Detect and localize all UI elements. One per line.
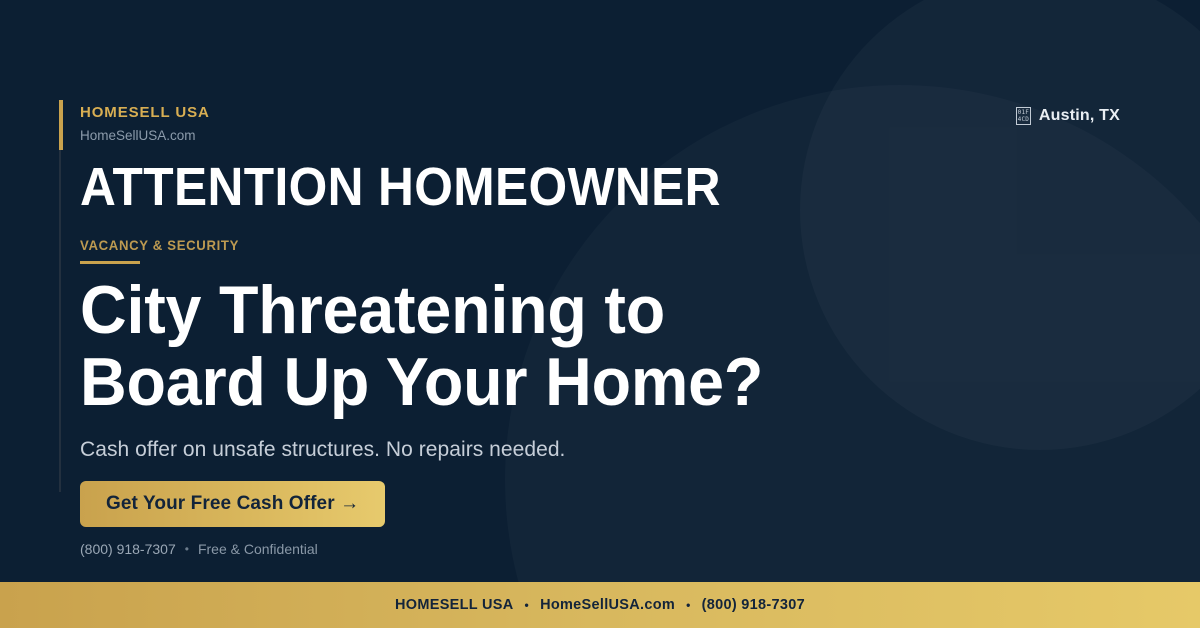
fineprint-row: (800) 918-7307 • Free & Confidential xyxy=(80,542,318,556)
tofu-codepoint-top: 01F xyxy=(1018,109,1029,116)
footer-website[interactable]: HomeSellUSA.com xyxy=(540,597,675,613)
eyebrow-label: VACANCY & SECURITY xyxy=(80,238,239,252)
footer-brand: HOMESELL USA xyxy=(395,597,514,613)
footer-separator-2: • xyxy=(686,598,691,612)
attention-headline: ATTENTION HOMEOWNER xyxy=(80,160,721,214)
ad-banner: HOMESELL USA HomeSellUSA.com 01F 4CD Aus… xyxy=(0,0,1200,628)
map-pin-icon: 01F 4CD xyxy=(1016,107,1031,125)
brand-block: HOMESELL USA HomeSellUSA.com xyxy=(80,105,210,143)
subheadline: Cash offer on unsafe structures. No repa… xyxy=(80,437,565,462)
fineprint-phone[interactable]: (800) 918-7307 xyxy=(80,542,176,556)
brand-accent-bar xyxy=(59,100,63,150)
footer-phone[interactable]: (800) 918-7307 xyxy=(702,597,805,613)
tofu-codepoint-bottom: 4CD xyxy=(1018,116,1029,123)
content-area: HOMESELL USA HomeSellUSA.com 01F 4CD Aus… xyxy=(80,0,1120,628)
headline-line-2: Board Up Your Home? xyxy=(80,346,878,418)
page-title: City Threatening to Board Up Your Home? xyxy=(80,274,878,418)
content-rail xyxy=(59,100,61,492)
headline-line-1: City Threatening to xyxy=(80,274,878,346)
fineprint-note: Free & Confidential xyxy=(198,542,318,556)
footer-bar: HOMESELL USA • HomeSellUSA.com • (800) 9… xyxy=(0,582,1200,628)
fineprint-separator: • xyxy=(185,543,189,555)
brand-row: HOMESELL USA HomeSellUSA.com 01F 4CD Aus… xyxy=(80,105,1120,143)
location-badge: 01F 4CD Austin, TX xyxy=(1016,107,1120,125)
brand-website: HomeSellUSA.com xyxy=(80,129,210,144)
brand-name: HOMESELL USA xyxy=(80,105,210,122)
get-free-cash-offer-button[interactable]: Get Your Free Cash Offer → xyxy=(80,481,385,527)
eyebrow-rule xyxy=(80,261,140,264)
location-label: Austin, TX xyxy=(1039,107,1120,125)
footer-separator-1: • xyxy=(525,598,530,612)
footer-content: HOMESELL USA • HomeSellUSA.com • (800) 9… xyxy=(395,597,805,613)
